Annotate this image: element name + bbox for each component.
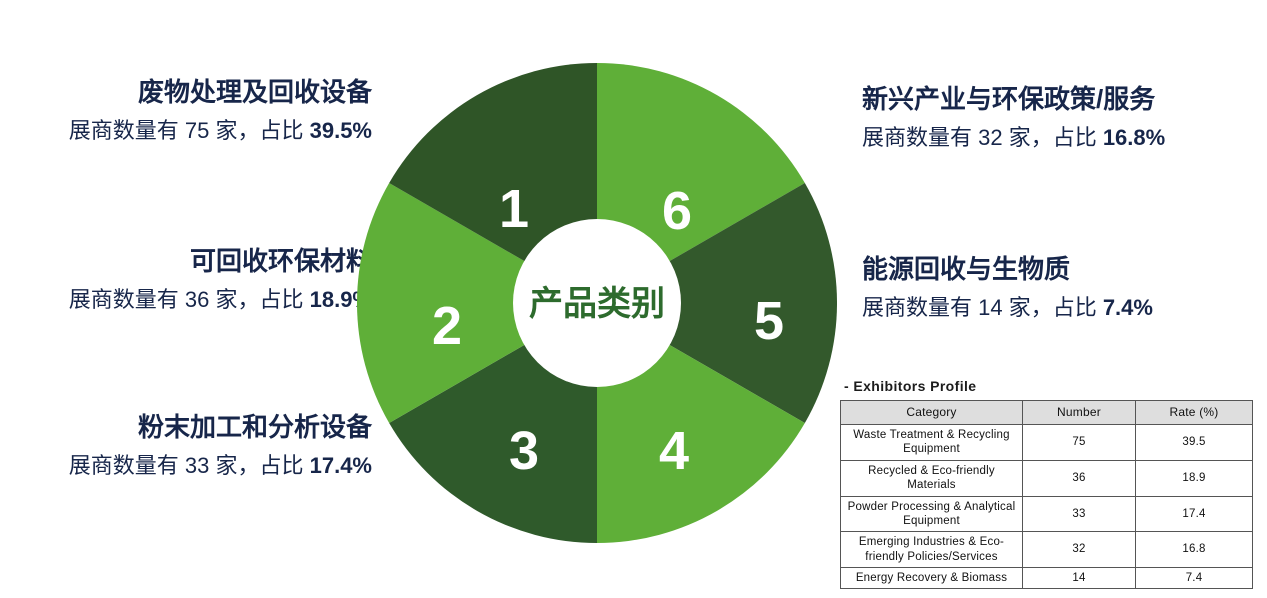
- donut-number-1: 1: [499, 179, 529, 239]
- product-category-donut-chart: 1 2 3 4 5 6 产品类别: [357, 63, 837, 543]
- cell-category: Recycled & Eco-friendly Materials: [841, 460, 1023, 496]
- category-stat-6: 展商数量有 32 家，占比 16.8%: [862, 124, 1262, 153]
- donut-number-2: 2: [432, 296, 462, 356]
- table-row: Recycled & Eco-friendly Materials 36 18.…: [841, 460, 1253, 496]
- category-label-5: 能源回收与生物质 展商数量有 14 家，占比 7.4%: [862, 255, 1262, 322]
- cell-number: 75: [1023, 425, 1136, 461]
- table-row: Waste Treatment & Recycling Equipment 75…: [841, 425, 1253, 461]
- cell-rate: 17.4: [1136, 496, 1253, 532]
- cell-number: 14: [1023, 568, 1136, 589]
- cell-rate: 39.5: [1136, 425, 1253, 461]
- column-header-rate: Rate (%): [1136, 401, 1253, 425]
- category-title-5: 能源回收与生物质: [862, 255, 1262, 285]
- category-stat-prefix-2: 展商数量有 36 家，占比: [69, 287, 310, 312]
- table-body: Waste Treatment & Recycling Equipment 75…: [841, 425, 1253, 589]
- category-title-3: 粉末加工和分析设备: [0, 413, 372, 443]
- cell-number: 36: [1023, 460, 1136, 496]
- category-label-6: 新兴产业与环保政策/服务 展商数量有 32 家，占比 16.8%: [862, 85, 1262, 152]
- donut-svg: 1 2 3 4 5 6 产品类别: [357, 63, 837, 543]
- category-stat-value-5: 7.4%: [1103, 295, 1153, 320]
- table-row: Emerging Industries & Eco-friendly Polic…: [841, 532, 1253, 568]
- table-head: Category Number Rate (%): [841, 401, 1253, 425]
- table-row: Powder Processing & Analytical Equipment…: [841, 496, 1253, 532]
- donut-number-6: 6: [662, 181, 692, 241]
- category-stat-prefix-1: 展商数量有 75 家，占比: [69, 118, 310, 143]
- category-stat-5: 展商数量有 14 家，占比 7.4%: [862, 294, 1262, 323]
- exhibitors-profile-heading: - Exhibitors Profile: [844, 378, 1252, 394]
- cell-category: Waste Treatment & Recycling Equipment: [841, 425, 1023, 461]
- category-stat-value-6: 16.8%: [1103, 125, 1165, 150]
- donut-center-label: 产品类别: [529, 285, 665, 323]
- category-title-2: 可回收环保材料: [0, 247, 372, 277]
- category-stat-prefix-5: 展商数量有 14 家，占比: [862, 295, 1103, 320]
- category-stat-3: 展商数量有 33 家，占比 17.4%: [0, 452, 372, 481]
- category-stat-2: 展商数量有 36 家，占比 18.9%: [0, 286, 372, 315]
- column-header-number: Number: [1023, 401, 1136, 425]
- cell-rate: 18.9: [1136, 460, 1253, 496]
- cell-rate: 16.8: [1136, 532, 1253, 568]
- cell-category: Energy Recovery & Biomass: [841, 568, 1023, 589]
- category-stat-1: 展商数量有 75 家，占比 39.5%: [0, 117, 372, 146]
- cell-number: 33: [1023, 496, 1136, 532]
- cell-category: Emerging Industries & Eco-friendly Polic…: [841, 532, 1023, 568]
- category-title-1: 废物处理及回收设备: [0, 78, 372, 108]
- table-row: Energy Recovery & Biomass 14 7.4: [841, 568, 1253, 589]
- category-stat-prefix-3: 展商数量有 33 家，占比: [69, 453, 310, 478]
- category-label-1: 废物处理及回收设备 展商数量有 75 家，占比 39.5%: [0, 78, 372, 145]
- category-stat-prefix-6: 展商数量有 32 家，占比: [862, 125, 1103, 150]
- category-label-3: 粉末加工和分析设备 展商数量有 33 家，占比 17.4%: [0, 413, 372, 480]
- exhibitors-profile-table: Category Number Rate (%) Waste Treatment…: [840, 400, 1253, 589]
- category-title-6: 新兴产业与环保政策/服务: [862, 85, 1262, 115]
- exhibitors-profile-panel: - Exhibitors Profile Category Number Rat…: [840, 378, 1252, 589]
- cell-category: Powder Processing & Analytical Equipment: [841, 496, 1023, 532]
- column-header-category: Category: [841, 401, 1023, 425]
- cell-rate: 7.4: [1136, 568, 1253, 589]
- category-label-2: 可回收环保材料 展商数量有 36 家，占比 18.9%: [0, 247, 372, 314]
- cell-number: 32: [1023, 532, 1136, 568]
- donut-number-3: 3: [509, 421, 539, 481]
- donut-number-5: 5: [754, 291, 784, 351]
- donut-number-4: 4: [659, 421, 689, 481]
- table-header-row: Category Number Rate (%): [841, 401, 1253, 425]
